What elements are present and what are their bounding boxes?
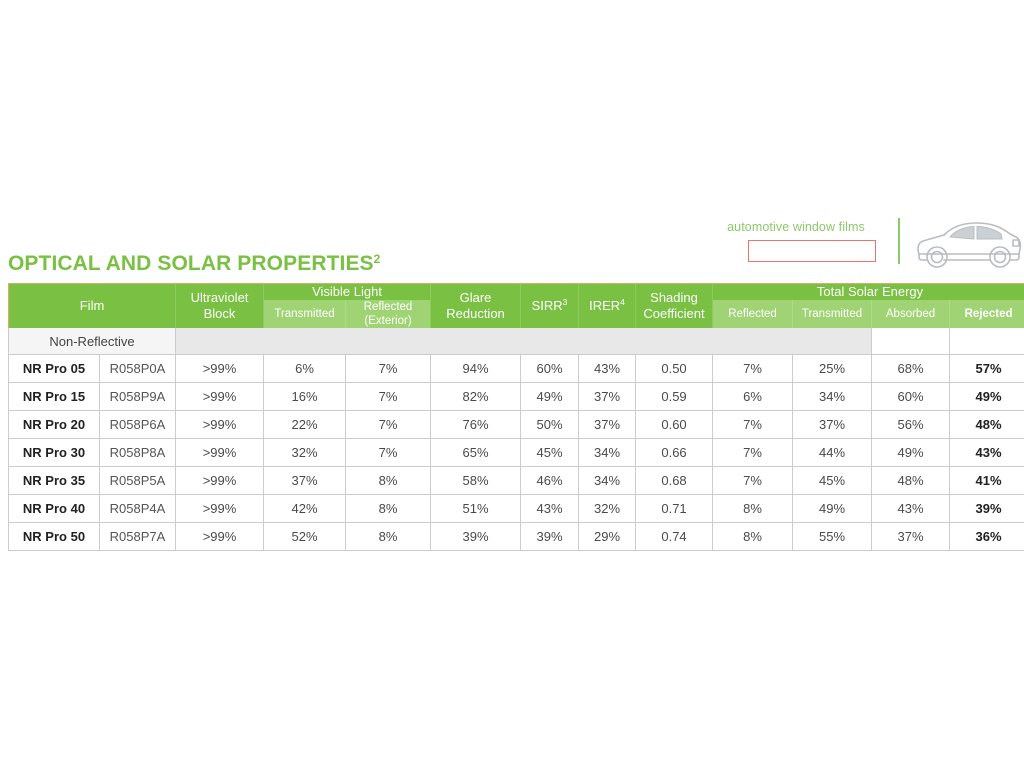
page-title-text: OPTICAL AND SOLAR PROPERTIES <box>8 252 374 275</box>
cell-tse-transmitted: 45% <box>793 467 872 495</box>
cell-tse-transmitted: 34% <box>793 383 872 411</box>
cell-code: R058P6A <box>100 411 176 439</box>
header-vl-transmitted: Transmitted <box>264 300 346 328</box>
cell-tse-absorbed: 68% <box>872 355 950 383</box>
header-visible-light: Visible Light <box>264 284 431 301</box>
cell-tse-transmitted: 44% <box>793 439 872 467</box>
cell-uv-block: >99% <box>176 523 264 551</box>
cell-code: R058P4A <box>100 495 176 523</box>
page-title-superscript: 2 <box>374 252 381 266</box>
cell-tse-rejected: 49% <box>950 383 1024 411</box>
cell-shading-coefficient: 0.59 <box>636 383 713 411</box>
cell-tse-rejected: 43% <box>950 439 1024 467</box>
header-irer: IRER4 <box>579 284 636 329</box>
cell-tse-rejected: 36% <box>950 523 1024 551</box>
cell-glare-reduction: 39% <box>431 523 521 551</box>
cell-glare-reduction: 65% <box>431 439 521 467</box>
brand-logo-placeholder <box>748 240 876 262</box>
brand-tagline: automotive window films <box>712 220 880 234</box>
cell-irer: 34% <box>579 467 636 495</box>
page-title: OPTICAL AND SOLAR PROPERTIES2 <box>8 252 380 276</box>
group-blank-absorbed <box>872 328 950 355</box>
header-tse-transmitted: Transmitted <box>793 300 872 328</box>
cell-tse-reflected: 8% <box>713 495 793 523</box>
header-total-solar-energy: Total Solar Energy <box>713 284 1024 301</box>
brand-text-wrap: automotive window films <box>712 218 880 262</box>
cell-tse-rejected: 57% <box>950 355 1024 383</box>
cell-vl-transmitted: 22% <box>264 411 346 439</box>
table-row: NR Pro 40R058P4A>99%42%8%51%43%32%0.718%… <box>9 495 1024 523</box>
cell-name: NR Pro 15 <box>9 383 100 411</box>
cell-glare-reduction: 76% <box>431 411 521 439</box>
brand-divider <box>898 218 900 264</box>
cell-sirr: 46% <box>521 467 579 495</box>
brand-block: automotive window films <box>712 218 1024 274</box>
cell-sirr: 45% <box>521 439 579 467</box>
cell-code: R058P5A <box>100 467 176 495</box>
header-glare-reduction: Glare Reduction <box>431 284 521 329</box>
cell-vl-transmitted: 32% <box>264 439 346 467</box>
header-sirr-superscript: 3 <box>563 297 568 307</box>
cell-vl-reflected: 7% <box>346 355 431 383</box>
cell-uv-block: >99% <box>176 383 264 411</box>
cell-sirr: 43% <box>521 495 579 523</box>
cell-shading-coefficient: 0.74 <box>636 523 713 551</box>
cell-uv-block: >99% <box>176 411 264 439</box>
cell-vl-reflected: 7% <box>346 439 431 467</box>
cell-tse-rejected: 41% <box>950 467 1024 495</box>
cell-glare-reduction: 51% <box>431 495 521 523</box>
header-shading-coefficient: Shading Coefficient <box>636 284 713 329</box>
cell-shading-coefficient: 0.66 <box>636 439 713 467</box>
table-row: NR Pro 35R058P5A>99%37%8%58%46%34%0.687%… <box>9 467 1024 495</box>
cell-tse-absorbed: 60% <box>872 383 950 411</box>
table-row: NR Pro 20R058P6A>99%22%7%76%50%37%0.607%… <box>9 411 1024 439</box>
cell-irer: 43% <box>579 355 636 383</box>
cell-name: NR Pro 20 <box>9 411 100 439</box>
cell-code: R058P9A <box>100 383 176 411</box>
cell-sirr: 50% <box>521 411 579 439</box>
car-side-icon <box>914 218 1024 270</box>
cell-irer: 37% <box>579 383 636 411</box>
cell-code: R058P7A <box>100 523 176 551</box>
cell-shading-coefficient: 0.60 <box>636 411 713 439</box>
table-row: NR Pro 50R058P7A>99%52%8%39%39%29%0.748%… <box>9 523 1024 551</box>
table-header-row-groups: Film Ultraviolet Block Visible Light Gla… <box>9 284 1024 301</box>
cell-sirr: 39% <box>521 523 579 551</box>
cell-tse-transmitted: 49% <box>793 495 872 523</box>
cell-shading-coefficient: 0.50 <box>636 355 713 383</box>
optical-solar-properties-table: Film Ultraviolet Block Visible Light Gla… <box>8 283 1024 551</box>
table-row: NR Pro 30R058P8A>99%32%7%65%45%34%0.667%… <box>9 439 1024 467</box>
cell-shading-coefficient: 0.68 <box>636 467 713 495</box>
header-tse-rejected: Rejected <box>950 300 1024 328</box>
header-tse-absorbed: Absorbed <box>872 300 950 328</box>
cell-vl-reflected: 8% <box>346 523 431 551</box>
cell-uv-block: >99% <box>176 467 264 495</box>
properties-table-wrap: Film Ultraviolet Block Visible Light Gla… <box>8 283 1017 551</box>
cell-name: NR Pro 50 <box>9 523 100 551</box>
cell-sirr: 60% <box>521 355 579 383</box>
cell-glare-reduction: 82% <box>431 383 521 411</box>
cell-vl-reflected: 7% <box>346 383 431 411</box>
cell-tse-reflected: 8% <box>713 523 793 551</box>
cell-tse-reflected: 7% <box>713 411 793 439</box>
cell-irer: 34% <box>579 439 636 467</box>
group-row-non-reflective: Non-Reflective <box>9 328 1024 355</box>
group-blank-rejected <box>950 328 1024 355</box>
header-sirr: SIRR3 <box>521 284 579 329</box>
cell-sirr: 49% <box>521 383 579 411</box>
cell-tse-rejected: 48% <box>950 411 1024 439</box>
cell-vl-reflected: 7% <box>346 411 431 439</box>
cell-tse-reflected: 7% <box>713 355 793 383</box>
cell-tse-reflected: 6% <box>713 383 793 411</box>
cell-irer: 37% <box>579 411 636 439</box>
cell-tse-absorbed: 48% <box>872 467 950 495</box>
cell-code: R058P0A <box>100 355 176 383</box>
cell-tse-transmitted: 37% <box>793 411 872 439</box>
cell-vl-transmitted: 52% <box>264 523 346 551</box>
cell-glare-reduction: 58% <box>431 467 521 495</box>
group-fill <box>176 328 872 355</box>
table-body: Non-Reflective NR Pro 05R058P0A>99%6%7%9… <box>9 328 1024 551</box>
cell-uv-block: >99% <box>176 439 264 467</box>
page-root: automotive window films <box>0 0 1024 768</box>
cell-uv-block: >99% <box>176 355 264 383</box>
cell-vl-transmitted: 37% <box>264 467 346 495</box>
table-row: NR Pro 05R058P0A>99%6%7%94%60%43%0.507%2… <box>9 355 1024 383</box>
header-irer-label: IRER <box>589 298 620 313</box>
group-label-non-reflective: Non-Reflective <box>9 328 176 355</box>
cell-irer: 29% <box>579 523 636 551</box>
table-row: NR Pro 15R058P9A>99%16%7%82%49%37%0.596%… <box>9 383 1024 411</box>
cell-code: R058P8A <box>100 439 176 467</box>
cell-name: NR Pro 30 <box>9 439 100 467</box>
cell-vl-transmitted: 16% <box>264 383 346 411</box>
cell-uv-block: >99% <box>176 495 264 523</box>
cell-vl-reflected: 8% <box>346 467 431 495</box>
cell-tse-absorbed: 43% <box>872 495 950 523</box>
cell-tse-rejected: 39% <box>950 495 1024 523</box>
header-vl-reflected-exterior: Reflected (Exterior) <box>346 300 431 328</box>
cell-name: NR Pro 40 <box>9 495 100 523</box>
cell-tse-absorbed: 56% <box>872 411 950 439</box>
cell-tse-transmitted: 25% <box>793 355 872 383</box>
cell-name: NR Pro 05 <box>9 355 100 383</box>
cell-tse-reflected: 7% <box>713 439 793 467</box>
cell-glare-reduction: 94% <box>431 355 521 383</box>
cell-vl-reflected: 8% <box>346 495 431 523</box>
cell-vl-transmitted: 6% <box>264 355 346 383</box>
header-irer-superscript: 4 <box>620 297 625 307</box>
cell-irer: 32% <box>579 495 636 523</box>
cell-tse-absorbed: 49% <box>872 439 950 467</box>
header-ultraviolet-block: Ultraviolet Block <box>176 284 264 329</box>
header-sirr-label: SIRR <box>532 298 563 313</box>
cell-name: NR Pro 35 <box>9 467 100 495</box>
header-tse-reflected: Reflected <box>713 300 793 328</box>
cell-tse-absorbed: 37% <box>872 523 950 551</box>
cell-tse-reflected: 7% <box>713 467 793 495</box>
cell-vl-transmitted: 42% <box>264 495 346 523</box>
cell-tse-transmitted: 55% <box>793 523 872 551</box>
cell-shading-coefficient: 0.71 <box>636 495 713 523</box>
header-film: Film <box>9 284 176 329</box>
